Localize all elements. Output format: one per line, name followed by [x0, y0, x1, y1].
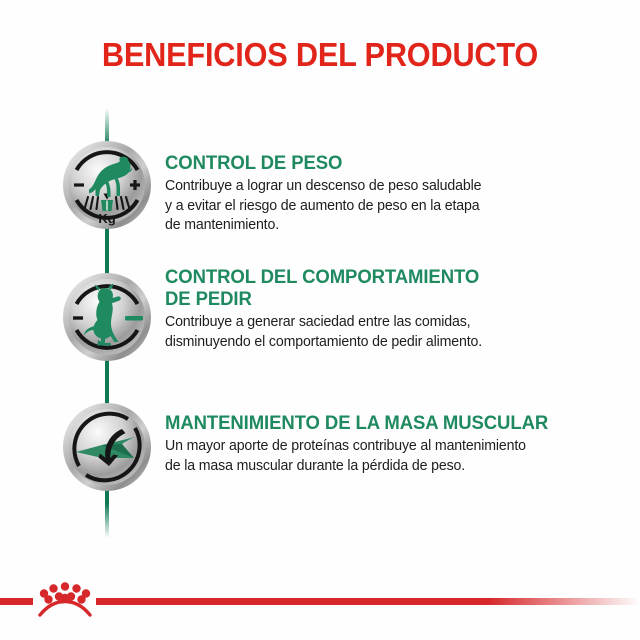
benefit-body: Un mayor aporte de proteínas contribuye …	[165, 437, 572, 476]
dog-on-weight-scale-icon: Kg	[62, 140, 152, 230]
benefit-title: CONTROL DE PESO	[165, 152, 564, 174]
benefit-body: Contribuye a generar saciedad entre las …	[165, 313, 572, 352]
footer-rule-left	[0, 598, 33, 605]
benefit-body: Contribuye a lograr un descenso de peso …	[165, 177, 572, 236]
muscle-arrow-icon	[62, 402, 152, 492]
page-title: BENEFICIOS DEL PRODUCTO	[22, 36, 617, 74]
benefit-text-block: CONTROL DE PESO Contribuye a lograr un d…	[165, 152, 585, 236]
royal-canin-crown-logo	[36, 578, 94, 620]
benefit-text-block: MANTENIMIENTO DE LA MASA MUSCULAR Un may…	[165, 412, 585, 476]
begging-dog-icon	[62, 272, 152, 362]
svg-text:Kg: Kg	[98, 211, 115, 226]
benefit-item: Kg CONTROL DE PESO Contribuye a lograr u…	[0, 140, 640, 250]
footer-rule-right	[96, 598, 640, 605]
product-benefits-page: BENEFICIOS DEL PRODUCTO	[0, 0, 640, 640]
benefit-text-block: CONTROL DEL COMPORTAMIENTO DE PEDIR Cont…	[165, 266, 585, 352]
benefit-title: CONTROL DEL COMPORTAMIENTO DE PEDIR	[165, 266, 564, 310]
benefit-item: CONTROL DEL COMPORTAMIENTO DE PEDIR Cont…	[0, 272, 640, 382]
benefit-title: MANTENIMIENTO DE LA MASA MUSCULAR	[165, 412, 564, 434]
benefit-item: MANTENIMIENTO DE LA MASA MUSCULAR Un may…	[0, 402, 640, 512]
